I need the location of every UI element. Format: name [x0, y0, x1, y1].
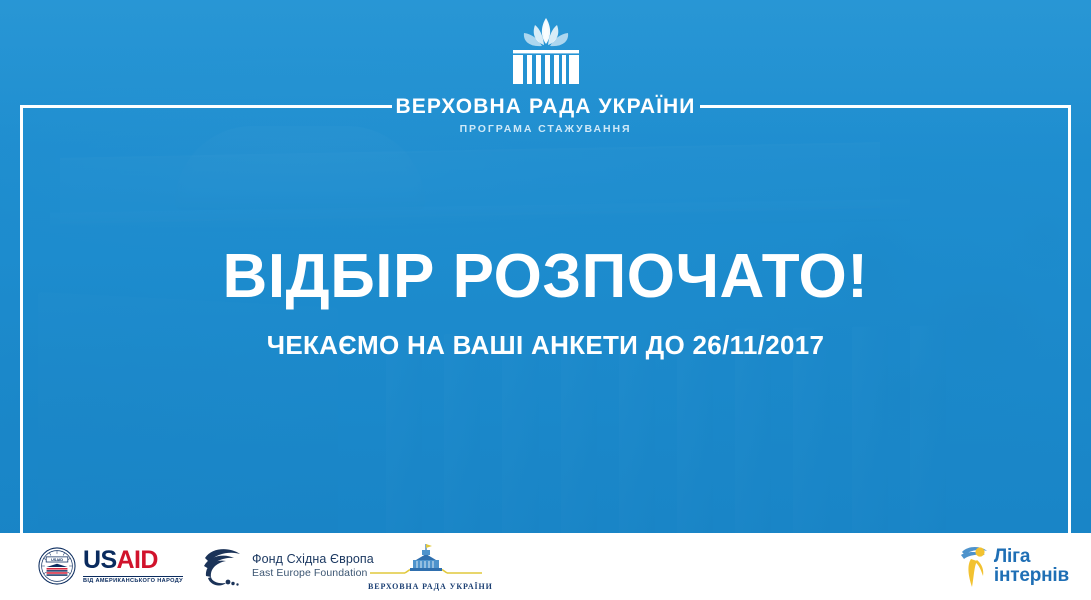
eef-swoosh-icon — [200, 544, 246, 588]
logo-usaid: USAID USAID ВІД АМЕРИКАНСЬКОГО НАРОДУ — [38, 547, 183, 585]
rada-caption: ВЕРХОВНА РАДА УКРАЇНИ — [368, 582, 493, 591]
headline-title: ВІДБІР РОЗПОЧАТО! — [0, 246, 1091, 308]
program-subtitle: ПРОГРАМА СТАЖУВАННЯ — [0, 124, 1091, 135]
logo-verkhovna-rada: ВЕРХОВНА РАДА УКРАЇНИ — [368, 543, 493, 591]
usaid-wordmark: USAID ВІД АМЕРИКАНСЬКОГО НАРОДУ — [83, 548, 183, 585]
usaid-seal-icon: USAID — [38, 547, 76, 585]
usaid-tagline: ВІД АМЕРИКАНСЬКОГО НАРОДУ — [83, 576, 183, 585]
organization-title: ВЕРХОВНА РАДА УКРАЇНИ — [0, 96, 1091, 117]
banner-root: ВЕРХОВНА РАДА УКРАЇНИ ПРОГРАМА СТАЖУВАНН… — [0, 0, 1091, 600]
brand-lockup: ВЕРХОВНА РАДА УКРАЇНИ ПРОГРАМА СТАЖУВАНН… — [0, 16, 1091, 135]
eef-wordmark: Фонд Східна Європа East Europe Foundatio… — [252, 552, 374, 581]
footer-logo-bar: USAID USAID ВІД АМЕРИКАНСЬКОГО НАРОДУ — [0, 533, 1091, 600]
liga-figure-icon — [958, 543, 992, 589]
usaid-word-primary: US — [83, 546, 117, 574]
eef-name-ua: Фонд Східна Європа — [252, 552, 374, 568]
eef-name-en: East Europe Foundation — [252, 567, 374, 580]
rada-building-lotus-emblem-icon — [491, 16, 601, 90]
headline-subtitle: ЧЕКАЄМО НА ВАШІ АНКЕТИ ДО 26/11/2017 — [0, 332, 1091, 358]
usaid-word-accent: AID — [117, 546, 158, 574]
liga-wordmark: Ліга інтернів — [994, 547, 1069, 586]
headline-block: ВІДБІР РОЗПОЧАТО! ЧЕКАЄМО НА ВАШІ АНКЕТИ… — [0, 246, 1091, 358]
liga-line-two: інтернів — [994, 566, 1069, 585]
logo-east-europe-foundation: Фонд Східна Європа East Europe Foundatio… — [200, 544, 374, 588]
liga-line-one: Ліга — [994, 547, 1069, 566]
rada-building-icon — [368, 543, 484, 581]
svg-text:USAID: USAID — [51, 557, 63, 562]
logo-liga-interniv: Ліга інтернів — [958, 543, 1069, 589]
